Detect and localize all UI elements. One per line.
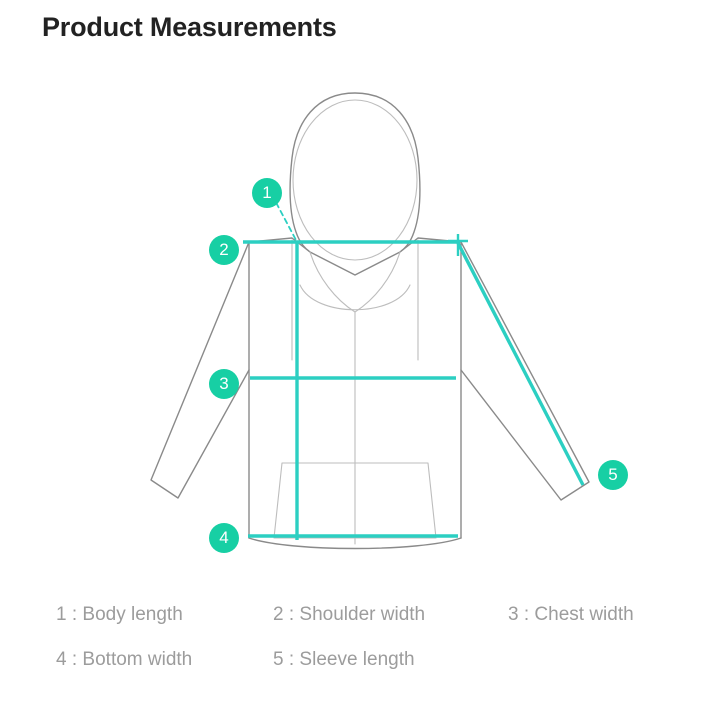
legend-item-bottom-width: 4 : Bottom width: [56, 649, 192, 671]
legend-label-3: Chest width: [534, 604, 633, 625]
legend-separator-1: :: [72, 604, 77, 625]
page-title: Product Measurements: [42, 12, 337, 43]
garment-outline-group: [151, 93, 589, 549]
legend-item-chest-width: 3 : Chest width: [508, 604, 634, 626]
hoodie-diagram: 1 2 3 4 5: [0, 60, 720, 590]
legend-number-5: 5: [273, 649, 284, 670]
measurement-legend: 1 : Body length 2 : Shoulder width 3 : C…: [0, 604, 720, 694]
legend-separator-3: :: [524, 604, 529, 625]
legend-number-3: 3: [508, 604, 519, 625]
legend-row-2: 4 : Bottom width 5 : Sleeve length: [0, 649, 720, 694]
product-measurements-page: Product Measurements: [0, 0, 720, 718]
left-sleeve-path: [151, 242, 249, 498]
hoodie-diagram-svg: [0, 60, 720, 590]
hood-outer-path: [290, 93, 420, 252]
legend-item-shoulder-width: 2 : Shoulder width: [273, 604, 425, 626]
measurement-lines-group: [243, 234, 583, 540]
neckline-path: [310, 252, 400, 312]
marker-badge-1[interactable]: 1: [252, 178, 282, 208]
legend-separator-2: :: [289, 604, 294, 625]
legend-separator-4: :: [72, 649, 77, 670]
legend-row-1: 1 : Body length 2 : Shoulder width 3 : C…: [0, 604, 720, 649]
legend-number-1: 1: [56, 604, 67, 625]
legend-label-1: Body length: [82, 604, 182, 625]
legend-number-4: 4: [56, 649, 67, 670]
legend-label-4: Bottom width: [82, 649, 192, 670]
hood-inner-oval: [293, 100, 417, 260]
marker-badge-5[interactable]: 5: [598, 460, 628, 490]
legend-item-body-length: 1 : Body length: [56, 604, 183, 626]
legend-separator-5: :: [289, 649, 294, 670]
legend-label-5: Sleeve length: [299, 649, 414, 670]
collar-curve-path: [300, 285, 410, 310]
legend-number-2: 2: [273, 604, 284, 625]
legend-label-2: Shoulder width: [299, 604, 425, 625]
marker-badge-4[interactable]: 4: [209, 523, 239, 553]
marker-badge-2[interactable]: 2: [209, 235, 239, 265]
legend-item-sleeve-length: 5 : Sleeve length: [273, 649, 415, 671]
marker-badge-3[interactable]: 3: [209, 369, 239, 399]
sleeve-length-line: [458, 243, 583, 485]
